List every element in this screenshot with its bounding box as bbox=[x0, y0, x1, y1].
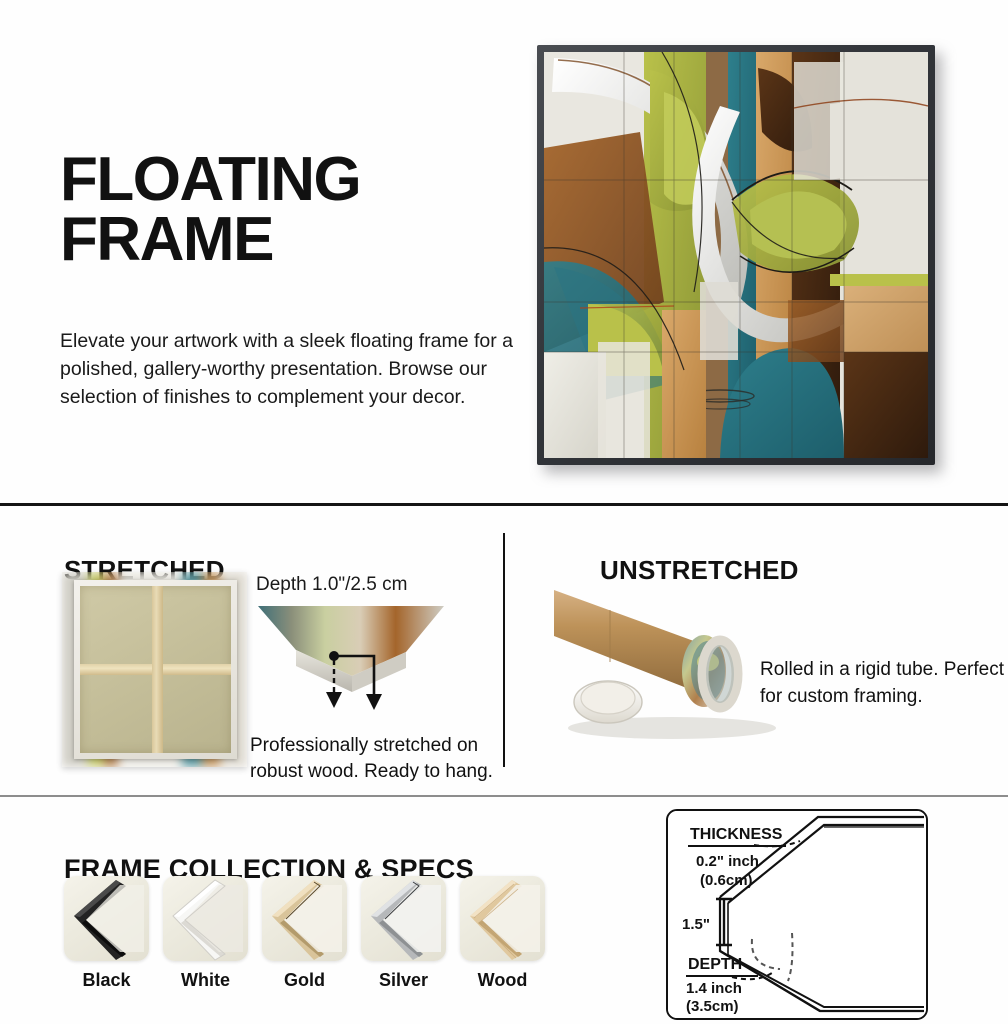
depth-measurement-label: Depth 1.0"/2.5 cm bbox=[256, 574, 407, 596]
unstretched-caption: Rolled in a rigid tube. Perfect for cust… bbox=[760, 657, 1006, 711]
swatch-label: Black bbox=[64, 970, 149, 991]
frame-swatch-white[interactable]: White bbox=[163, 876, 248, 991]
swatch-tile[interactable] bbox=[64, 876, 149, 961]
swatch-label: Wood bbox=[460, 970, 545, 991]
swatch-tile[interactable] bbox=[460, 876, 545, 961]
thickness-value-inch: 0.2" inch bbox=[696, 853, 759, 870]
depth-corner-icon bbox=[256, 600, 446, 715]
thickness-label: THICKNESS bbox=[690, 826, 783, 843]
frame-corner-icon bbox=[460, 876, 545, 961]
depth-label: DEPTH bbox=[688, 956, 742, 973]
thickness-value-cm: (0.6cm) bbox=[700, 872, 753, 889]
frame-collection-section: FRAME COLLECTION & SPECS Black bbox=[0, 797, 1008, 1024]
depth-value-inch: 1.4 inch bbox=[686, 980, 742, 997]
shipping-options-section: STRETCHED Depth 1.0"/ bbox=[0, 506, 1008, 795]
shipping-tube-photo bbox=[552, 578, 782, 743]
frame-corner-icon bbox=[64, 876, 149, 961]
stretched-canvas-photo bbox=[62, 572, 247, 767]
height-value: 1.5" bbox=[682, 916, 710, 933]
abstract-painting-icon bbox=[544, 52, 928, 458]
frame-corner-icon bbox=[361, 876, 446, 961]
page-title: FLOATING FRAME bbox=[60, 150, 360, 270]
swatch-tile[interactable] bbox=[361, 876, 446, 961]
frame-swatch-silver[interactable]: Silver bbox=[361, 876, 446, 991]
mailing-tube-icon bbox=[552, 578, 782, 743]
frame-spec-diagram: THICKNESS 0.2" inch (0.6cm) 1.5" DEPTH 1… bbox=[666, 809, 928, 1020]
hero-description: Elevate your artwork with a sleek floati… bbox=[60, 327, 530, 412]
frame-swatch-wood[interactable]: Wood bbox=[460, 876, 545, 991]
stretched-caption: Professionally stretched on robust wood.… bbox=[250, 733, 500, 784]
canvas-frame-edge bbox=[74, 580, 237, 759]
frame-corner-icon bbox=[163, 876, 248, 961]
framed-artwork bbox=[537, 45, 935, 465]
swatch-tile[interactable] bbox=[163, 876, 248, 961]
product-infographic: FLOATING FRAME Elevate your artwork with… bbox=[0, 0, 1008, 1024]
artwork-canvas bbox=[544, 52, 928, 458]
frame-swatch-black[interactable]: Black bbox=[64, 876, 149, 991]
page-title-line1: FLOATING bbox=[60, 145, 360, 214]
frame-swatch-gold[interactable]: Gold bbox=[262, 876, 347, 991]
swatch-label: White bbox=[163, 970, 248, 991]
frame-dimensions-icon: THICKNESS 0.2" inch (0.6cm) 1.5" DEPTH 1… bbox=[668, 811, 926, 1018]
canvas-depth-diagram bbox=[256, 600, 446, 715]
depth-value-cm: (3.5cm) bbox=[686, 998, 739, 1015]
swatch-label: Gold bbox=[262, 970, 347, 991]
page-title-line2: FRAME bbox=[60, 210, 360, 270]
frame-corner-icon bbox=[262, 876, 347, 961]
frame-swatch-list: Black White bbox=[64, 876, 545, 991]
canvas-back-surface bbox=[80, 586, 231, 753]
hero-section: FLOATING FRAME Elevate your artwork with… bbox=[0, 0, 1008, 503]
swatch-label: Silver bbox=[361, 970, 446, 991]
artwork-floating-frame bbox=[537, 45, 935, 465]
wood-brace-vertical bbox=[152, 586, 163, 753]
swatch-tile[interactable] bbox=[262, 876, 347, 961]
